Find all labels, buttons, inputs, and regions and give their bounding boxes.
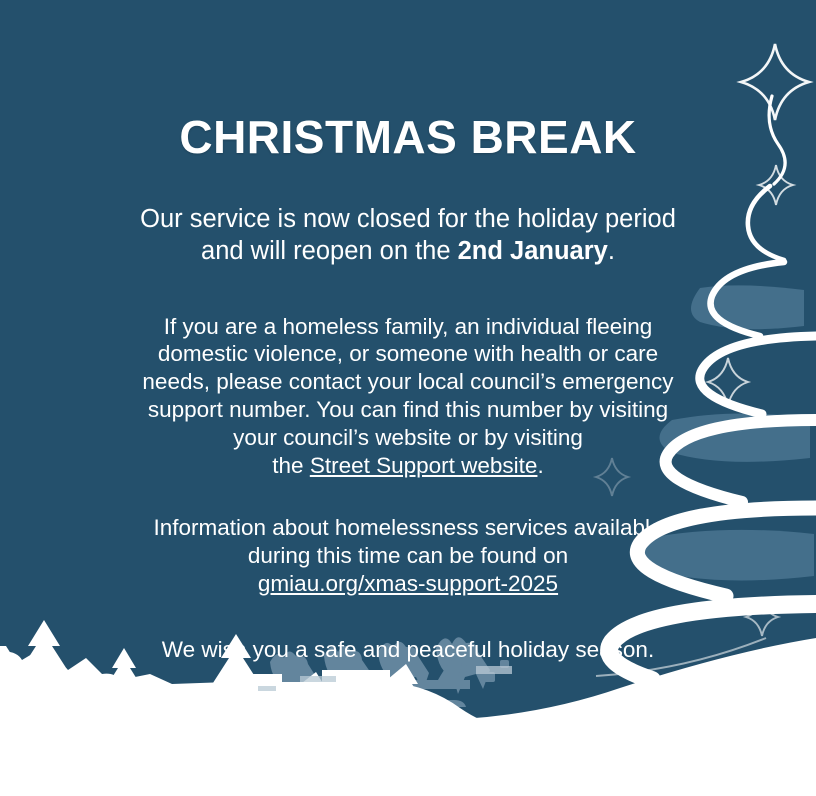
guidance-line-4: support number. You can find this number… bbox=[110, 396, 706, 424]
subtitle-paragraph: Our service is now closed for the holida… bbox=[0, 161, 816, 267]
guidance-line-6: the Street Support website. bbox=[110, 452, 706, 480]
information-line-1: Information about homelessness services … bbox=[110, 514, 706, 542]
guidance-line-2: domestic violence, or someone with healt… bbox=[110, 340, 706, 368]
subtitle-line-2-prefix: and will reopen on the bbox=[201, 237, 458, 265]
christmas-break-poster: CHRISTMAS BREAK Our service is now close… bbox=[0, 0, 816, 796]
guidance-paragraph: If you are a homeless family, an individ… bbox=[0, 268, 816, 480]
page-title: CHRISTMAS BREAK bbox=[0, 0, 816, 161]
poster-content: CHRISTMAS BREAK Our service is now close… bbox=[0, 0, 816, 663]
guidance-line-1: If you are a homeless family, an individ… bbox=[110, 313, 706, 341]
street-support-website-link[interactable]: Street Support website bbox=[310, 453, 538, 478]
closing-message: We wish you a safe and peaceful holiday … bbox=[0, 598, 816, 664]
guidance-line-3: needs, please contact your local council… bbox=[110, 368, 706, 396]
reopen-date: 2nd January bbox=[458, 237, 608, 265]
guidance-line-5: your council’s website or by visiting bbox=[110, 424, 706, 452]
guidance-line-6-prefix: the bbox=[272, 453, 310, 478]
xmas-support-url-link[interactable]: gmiau.org/xmas-support-2025 bbox=[110, 570, 706, 598]
information-paragraph: Information about homelessness services … bbox=[0, 480, 816, 598]
guidance-line-6-suffix: . bbox=[537, 453, 543, 478]
subtitle-line-1: Our service is now closed for the holida… bbox=[90, 203, 726, 235]
information-line-2: during this time can be found on bbox=[110, 542, 706, 570]
subtitle-line-2: and will reopen on the 2nd January. bbox=[90, 235, 726, 267]
building-shadow-details bbox=[258, 666, 512, 691]
subtitle-line-2-suffix: . bbox=[608, 237, 615, 265]
